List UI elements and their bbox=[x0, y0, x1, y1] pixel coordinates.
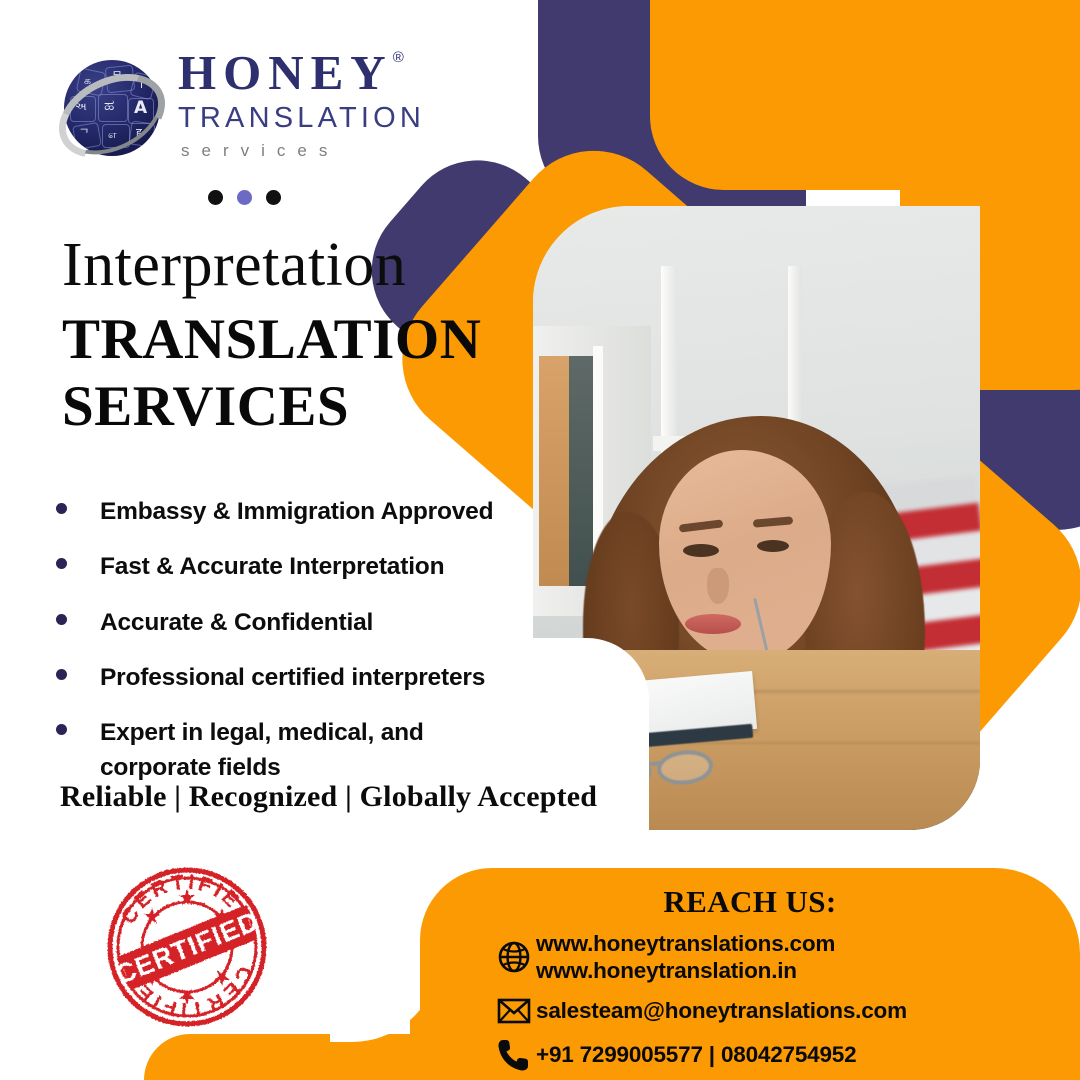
list-item: Expert in legal, medical, and corporate … bbox=[56, 715, 526, 786]
contact-row-email[interactable]: salesteam@honeytranslations.com bbox=[492, 997, 907, 1025]
website-secondary[interactable]: www.honeytranslation.in bbox=[536, 957, 835, 984]
eye bbox=[683, 544, 719, 557]
contact-row-website[interactable]: www.honeytranslations.com www.honeytrans… bbox=[492, 930, 907, 985]
headline-line-2: SERVICES bbox=[62, 373, 481, 440]
list-item: Fast & Accurate Interpretation bbox=[56, 549, 526, 584]
decorative-dots bbox=[208, 190, 281, 205]
reach-us-title: REACH US: bbox=[420, 884, 1080, 920]
feature-list: Embassy & Immigration Approved Fast & Ac… bbox=[56, 494, 526, 806]
email-address[interactable]: salesteam@honeytranslations.com bbox=[536, 997, 907, 1024]
eye bbox=[757, 540, 789, 552]
lips bbox=[685, 614, 741, 634]
headline-main: TRANSLATION SERVICES bbox=[62, 306, 481, 441]
certified-stamp-icon: CERTIFIED CERTIFIED CERTIFIED bbox=[106, 866, 268, 1028]
list-item-label: Embassy & Immigration Approved bbox=[100, 494, 493, 529]
list-item-label: Fast & Accurate Interpretation bbox=[100, 549, 444, 584]
nose bbox=[707, 568, 729, 604]
bullet-icon bbox=[56, 724, 67, 735]
website-primary[interactable]: www.honeytranslations.com bbox=[536, 930, 835, 957]
brand-logo: க 문 ا અ ಹ A ᄀ எ ह HONEY® TRANSLATION ser… bbox=[56, 48, 476, 178]
dot-purple bbox=[237, 190, 252, 205]
logo-wordmark-services: services bbox=[181, 142, 425, 159]
phone-icon bbox=[492, 1037, 536, 1073]
flyer-canvas: க 문 ا અ ಹ A ᄀ எ ह HONEY® TRANSLATION ser… bbox=[0, 0, 1080, 1080]
list-item: Embassy & Immigration Approved bbox=[56, 494, 526, 529]
bullet-icon bbox=[56, 614, 67, 625]
list-item-label: Expert in legal, medical, and corporate … bbox=[100, 715, 450, 786]
contact-list: www.honeytranslations.com www.honeytrans… bbox=[492, 930, 907, 1080]
globe-icon bbox=[492, 940, 536, 974]
bullet-icon bbox=[56, 669, 67, 680]
envelope-icon bbox=[492, 997, 536, 1025]
list-item-label: Professional certified interpreters bbox=[100, 660, 485, 695]
contact-row-phone[interactable]: +91 7299005577 | 08042754952 bbox=[492, 1037, 907, 1073]
globe-logo-icon: க 문 ا અ ಹ A ᄀ எ ह bbox=[56, 54, 168, 166]
dot-black bbox=[266, 190, 281, 205]
logo-wordmark-translation: TRANSLATION bbox=[178, 104, 425, 133]
logo-honey-text: HONEY bbox=[178, 45, 393, 100]
website-links[interactable]: www.honeytranslations.com www.honeytrans… bbox=[536, 930, 835, 985]
bullet-icon bbox=[56, 503, 67, 514]
list-item: Professional certified interpreters bbox=[56, 660, 526, 695]
book-spine bbox=[539, 356, 569, 586]
list-item-label: Accurate & Confidential bbox=[100, 605, 373, 640]
tagline: Reliable | Recognized | Globally Accepte… bbox=[60, 780, 597, 814]
headline-line-1: TRANSLATION bbox=[62, 306, 481, 373]
list-item: Accurate & Confidential bbox=[56, 605, 526, 640]
logo-wordmark-honey: HONEY® bbox=[178, 48, 425, 97]
dot-black bbox=[208, 190, 223, 205]
bullet-icon bbox=[56, 558, 67, 569]
headline-script: Interpretation bbox=[62, 234, 406, 296]
registered-trademark-icon: ® bbox=[393, 50, 404, 65]
phone-numbers[interactable]: +91 7299005577 | 08042754952 bbox=[536, 1041, 856, 1068]
